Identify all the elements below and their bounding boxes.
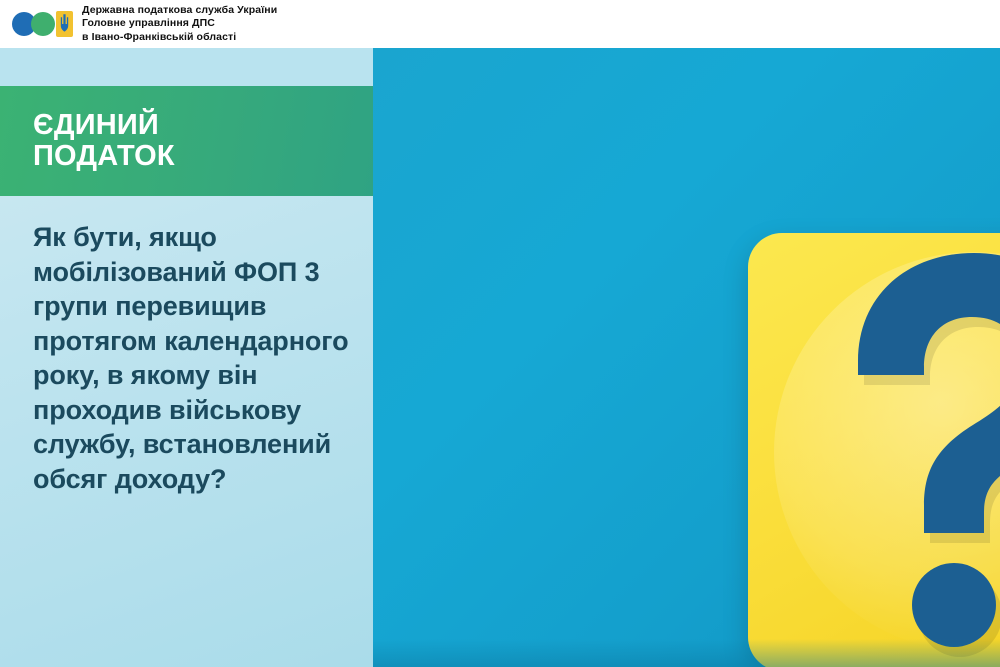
category-banner: ЄДИНИЙ ПОДАТОК — [0, 86, 373, 196]
category-title-line-1: ЄДИНИЙ — [33, 110, 175, 141]
category-title: ЄДИНИЙ ПОДАТОК — [0, 110, 175, 173]
question-mark-icon — [748, 233, 1000, 667]
question-text: Як бути, якщо мобілізований ФОП 3 групи … — [33, 220, 378, 496]
left-content-panel: ЄДИНИЙ ПОДАТОК Як бути, якщо мобілізован… — [0, 48, 373, 667]
header-line-2: Головне управління ДПС — [82, 17, 277, 30]
left-top-strip — [0, 48, 373, 86]
logo-green-circle — [31, 12, 55, 36]
header-organisation-text: Державна податкова служба України Головн… — [82, 4, 277, 44]
right-illustration-panel — [373, 48, 1000, 667]
tryzub-emblem-icon — [56, 11, 73, 37]
dps-logo-icon — [12, 8, 74, 40]
header-bar: Державна податкова служба України Головн… — [0, 0, 1000, 48]
slide-page: Державна податкова служба України Головн… — [0, 0, 1000, 667]
category-title-line-2: ПОДАТОК — [33, 141, 175, 172]
question-mark-card — [748, 233, 1000, 667]
header-line-1: Державна податкова служба України — [82, 4, 277, 17]
header-line-3: в Івано-Франківській області — [82, 31, 277, 44]
